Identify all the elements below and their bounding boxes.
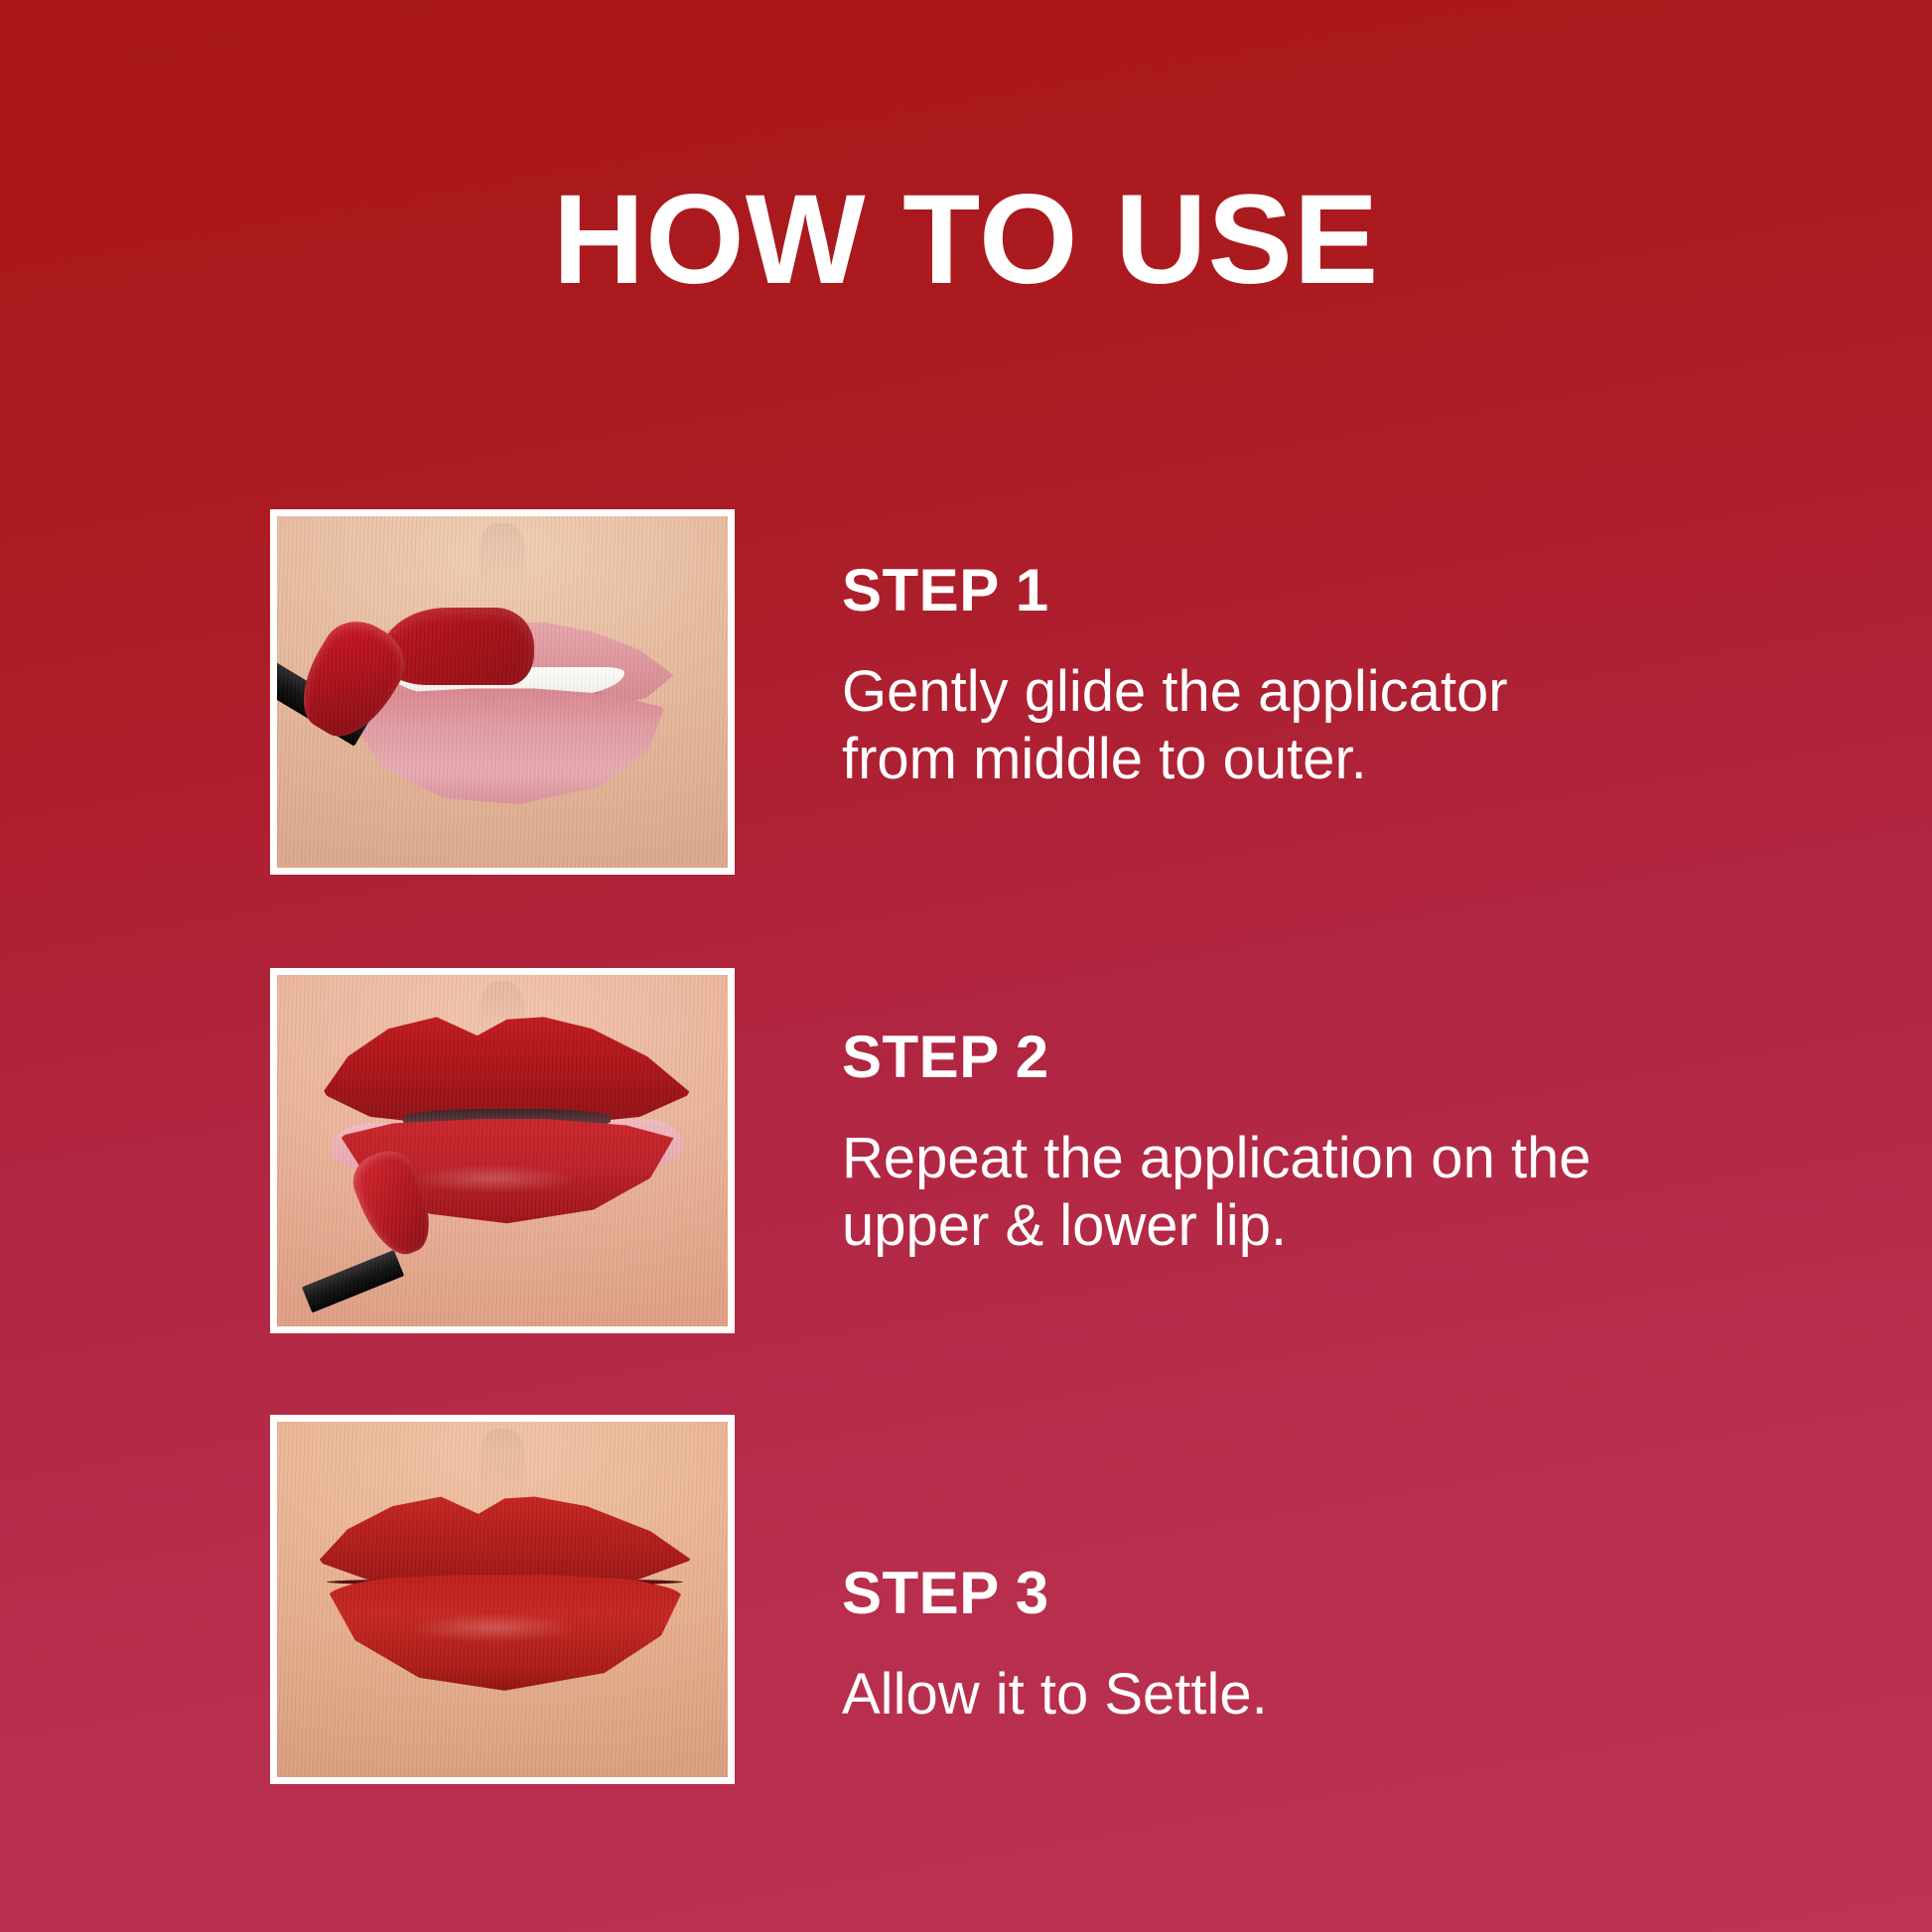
step-1-description: Gently glide the applicator from middle …	[842, 658, 1636, 794]
philtrum-shadow	[480, 523, 524, 594]
step-3-image	[277, 1422, 728, 1777]
step-3-photo-frame	[270, 1415, 735, 1784]
step-3-text-block: STEP 3 Allow it to Settle.	[842, 1564, 1735, 1728]
lip-highlight	[412, 1613, 574, 1642]
step-2-description: Repeat the application on the upper & lo…	[842, 1125, 1636, 1261]
step-1-label: STEP 1	[842, 561, 1735, 621]
step-row-1: STEP 1 Gently glide the applicator from …	[0, 509, 1932, 877]
step-1-text-block: STEP 1 Gently glide the applicator from …	[842, 561, 1735, 794]
step-1-image	[277, 516, 728, 868]
step-3-description: Allow it to Settle.	[842, 1661, 1636, 1728]
step-2-text-block: STEP 2 Repeat the application on the upp…	[842, 1028, 1735, 1261]
step-1-photo-frame	[270, 509, 735, 875]
how-to-use-poster: HOW TO USE STEP 1 Gently glide the appli…	[0, 0, 1932, 1932]
page-title: HOW TO USE	[0, 177, 1932, 304]
step-2-image	[277, 975, 728, 1326]
step-2-label: STEP 2	[842, 1028, 1735, 1087]
step-row-3: STEP 3 Allow it to Settle.	[0, 1415, 1932, 1782]
step-2-photo-frame	[270, 968, 735, 1333]
philtrum-shadow	[480, 1429, 524, 1500]
step-row-2: STEP 2 Repeat the application on the upp…	[0, 968, 1932, 1335]
step-3-label: STEP 3	[842, 1564, 1735, 1623]
